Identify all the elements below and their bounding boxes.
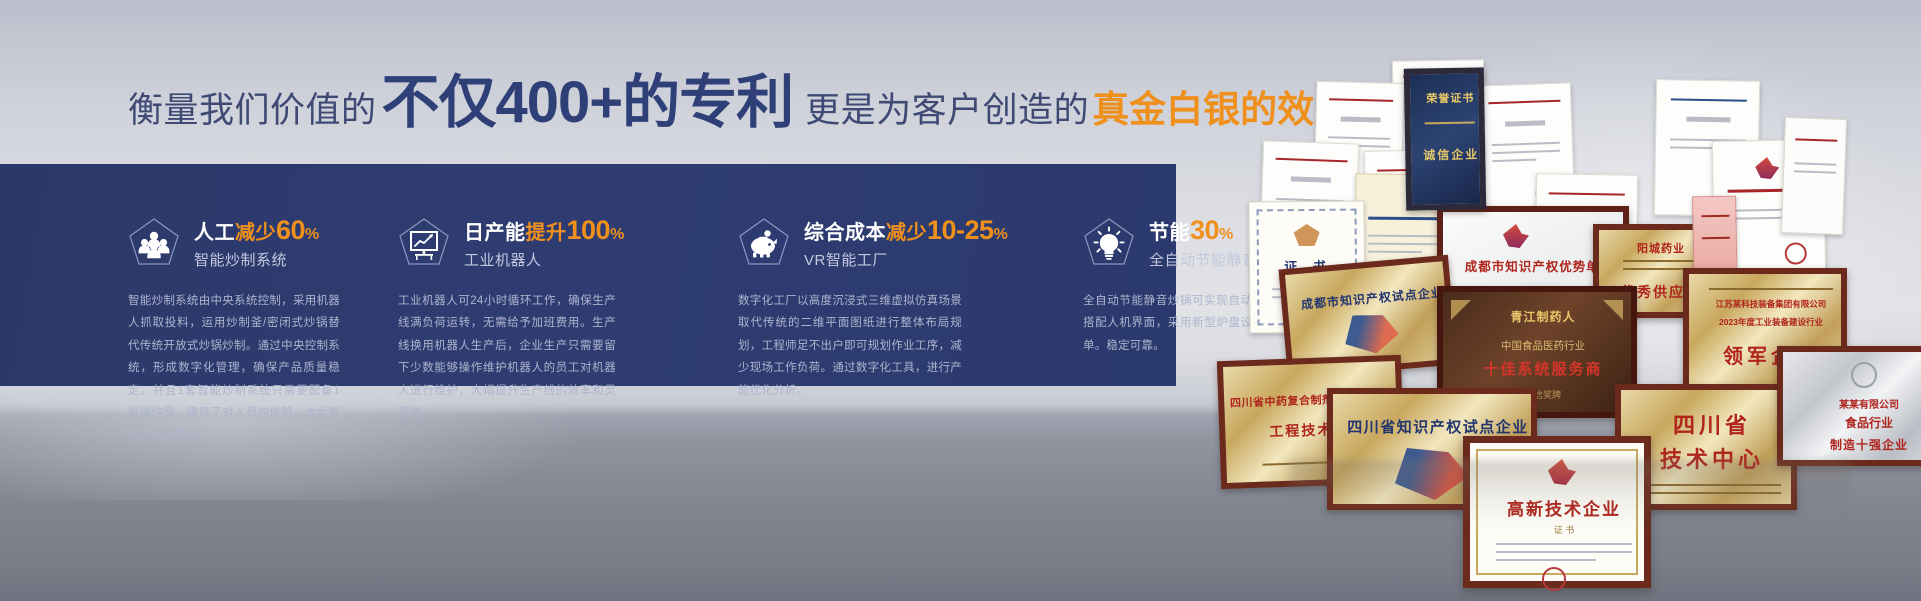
- stat-line-1: 人工减少60%: [194, 217, 319, 244]
- features-panel: 人工减少60% 智能炒制系统 智能炒制系统由中央系统控制，采用机器人抓取投料，运…: [0, 164, 1176, 386]
- certificate-label: 四川省知识产权试点企业: [1333, 416, 1543, 437]
- stat-number: 60: [276, 215, 305, 245]
- page-headline: 衡量我们价值的 不仅400+的专利 更是为客户创造的 真金白银的效益: [128, 74, 1351, 136]
- stat-prefix: 日产能: [464, 222, 526, 244]
- certificate-label: 诚信企业: [1411, 145, 1491, 163]
- stat-line-3: 综合成本减少10-25%: [804, 217, 1008, 244]
- feature-body-3: 数字化工厂以高度沉浸式三维虚拟仿真场景取代传统的二维平面图纸进行整体布局规划，工…: [738, 290, 962, 402]
- headline-prefix: 衡量我们价值的: [128, 93, 377, 128]
- stat-word: 减少: [235, 222, 276, 244]
- headline-middle: 更是为客户创造的: [798, 93, 1089, 128]
- plaque-reflection: [1290, 460, 1850, 530]
- headline-emphasis: 不仅400+的专利: [377, 74, 799, 132]
- award-plaque: 荣誉证书 诚信企业: [1404, 67, 1486, 210]
- stat-number: 10-25: [927, 215, 994, 245]
- feature-subtitle-1: 智能炒制系统: [194, 253, 319, 268]
- feature-column-2: 日产能提升100% 工业机器人 工业机器人可24小时循环工作，确保生产线满负荷运…: [350, 164, 683, 386]
- feature-body-2: 工业机器人可24小时循环工作，确保生产线满负荷运转，无需给予加班费用。生产线换用…: [398, 290, 616, 425]
- stat-number: 100: [567, 215, 611, 245]
- stat-unit: %: [305, 226, 319, 243]
- piggy-bank-icon: [738, 217, 790, 267]
- lightbulb-icon: [1083, 217, 1135, 267]
- stat-unit: %: [994, 226, 1008, 243]
- certificate-paper: [1781, 117, 1847, 235]
- stat-prefix: 节能: [1149, 222, 1190, 244]
- certificate-label: 成都市知识产权试点企业: [1287, 282, 1458, 314]
- stat-prefix: 人工: [194, 222, 235, 244]
- certificate-wall: 证 书 成都市知识产权优势单位 荣誉证书 诚信企业 阳城药业 优秀供应商: [1215, 46, 1921, 471]
- award-plaque: 某某有限公司 食品行业 制造十强企业: [1777, 346, 1921, 466]
- people-group-icon: [128, 217, 180, 267]
- feature-subtitle-3: VR智能工厂: [804, 253, 1008, 268]
- feature-column-4: 节能30% 全自动节能静音炒锅 全自动节能静音炒锅可实现自动控温控时，搭配人机界…: [1028, 164, 1176, 386]
- stat-line-2: 日产能提升100%: [464, 217, 624, 244]
- feature-subtitle-2: 工业机器人: [464, 253, 624, 268]
- stat-unit: %: [610, 226, 624, 243]
- feature-column-1: 人工减少60% 智能炒制系统 智能炒制系统由中央系统控制，采用机器人抓取投料，运…: [0, 164, 350, 386]
- feature-body-1: 智能炒制系统由中央系统控制，采用机器人抓取投料，运用炒制釜/密闭式炒锅替代传统开…: [128, 290, 340, 447]
- stat-word: 提升: [526, 222, 567, 244]
- feature-column-3: 综合成本减少10-25% VR智能工厂 数字化工厂以高度沉浸式三维虚拟仿真场景取…: [683, 164, 1028, 386]
- stat-prefix: 综合成本: [804, 222, 886, 244]
- stat-word: 减少: [886, 222, 927, 244]
- chart-board-icon: [398, 217, 450, 267]
